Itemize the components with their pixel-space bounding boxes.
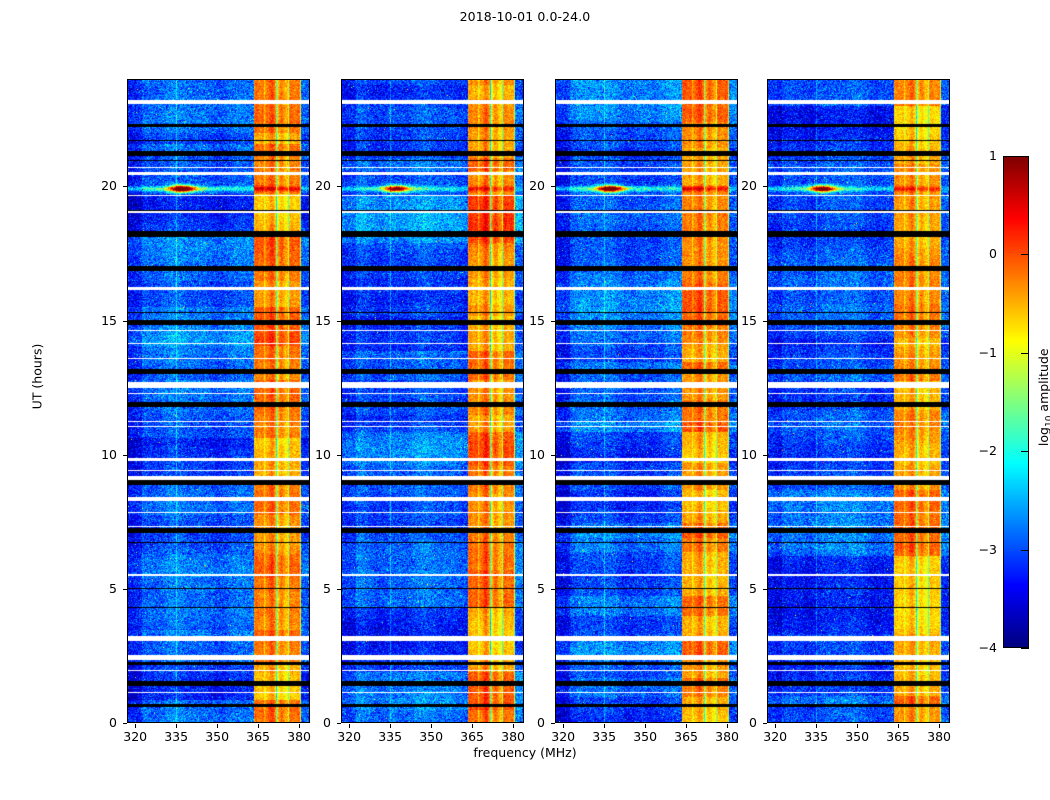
y-tick-mark [123, 455, 127, 456]
y-tick-label: 0 [717, 716, 757, 730]
y-tick-label: 0 [291, 716, 331, 730]
y-tick-mark [551, 321, 555, 322]
y-tick-mark [763, 321, 767, 322]
heatmap-panel-xy[interactable]: XY, V3*V4=EA01*EA05 [555, 79, 738, 723]
x-tick-mark [390, 724, 391, 728]
colorbar-label: log10 amplitude [1036, 317, 1050, 477]
y-tick-mark [551, 723, 555, 724]
x-tick-mark [775, 724, 776, 728]
colorbar-tick-mark [1021, 156, 1029, 157]
x-tick-mark [898, 724, 899, 728]
x-tick-mark [939, 724, 940, 728]
x-tick-mark [349, 724, 350, 728]
y-tick-label: 15 [505, 314, 545, 328]
heatmap-image-xx [128, 80, 309, 722]
colorbar-tick-label: −2 [955, 444, 997, 458]
figure-suptitle: 2018-10-01 0.0-24.0 [0, 9, 1050, 24]
colorbar-tick-label: −4 [955, 641, 997, 655]
y-tick-mark [551, 589, 555, 590]
heatmap-image-yy [342, 80, 523, 722]
y-tick-mark [123, 589, 127, 590]
y-tick-label: 15 [717, 314, 757, 328]
y-tick-mark [337, 723, 341, 724]
x-tick-mark [176, 724, 177, 728]
heatmap-panel-yx[interactable]: YX, V3*V4=EA01*EA05 [767, 79, 950, 723]
y-tick-mark [123, 321, 127, 322]
heatmap-panel-xx[interactable]: XX, V3*V4=EA01*EA05 [127, 79, 310, 723]
y-tick-label: 5 [77, 582, 117, 596]
x-tick-mark [816, 724, 817, 728]
x-tick-mark [857, 724, 858, 728]
heatmap-image-yx [768, 80, 949, 722]
y-tick-mark [551, 186, 555, 187]
y-tick-label: 20 [505, 179, 545, 193]
x-tick-mark [135, 724, 136, 728]
x-tick-mark [472, 724, 473, 728]
y-tick-mark [551, 455, 555, 456]
y-tick-label: 5 [505, 582, 545, 596]
x-tick-mark [431, 724, 432, 728]
x-tick-mark [604, 724, 605, 728]
y-tick-label: 0 [505, 716, 545, 730]
colorbar-gradient [1003, 156, 1029, 648]
x-tick-mark [686, 724, 687, 728]
y-tick-label: 10 [717, 448, 757, 462]
colorbar-tick-mark [1021, 451, 1029, 452]
y-tick-label: 5 [717, 582, 757, 596]
figure-canvas: 2018-10-01 0.0-24.0 XX, V3*V4=EA01*EA05 … [0, 0, 1050, 800]
x-tick-label: 380 [275, 729, 323, 744]
x-tick-label: 380 [915, 729, 963, 744]
colorbar-tick-label: 0 [955, 247, 997, 261]
x-tick-label: 380 [703, 729, 751, 744]
x-tick-label: 380 [489, 729, 537, 744]
y-tick-label: 20 [291, 179, 331, 193]
colorbar-tick-label: −1 [955, 346, 997, 360]
y-tick-label: 15 [77, 314, 117, 328]
x-axis-label: frequency (MHz) [0, 745, 1050, 760]
colorbar-tick-label: 1 [955, 149, 997, 163]
heatmap-panel-yy[interactable]: YY, V3*V4=EA01*EA05 [341, 79, 524, 723]
colorbar-tick-mark [1021, 353, 1029, 354]
y-tick-label: 10 [505, 448, 545, 462]
y-tick-mark [123, 723, 127, 724]
y-tick-mark [763, 589, 767, 590]
heatmap-image-xy [556, 80, 737, 722]
x-tick-mark [563, 724, 564, 728]
y-tick-label: 5 [291, 582, 331, 596]
y-tick-mark [763, 455, 767, 456]
colorbar-tick-mark [1021, 648, 1029, 649]
colorbar-tick-mark [1021, 254, 1029, 255]
y-tick-label: 0 [77, 716, 117, 730]
y-tick-mark [337, 455, 341, 456]
y-tick-mark [337, 186, 341, 187]
x-tick-mark [217, 724, 218, 728]
y-tick-label: 20 [717, 179, 757, 193]
y-tick-label: 10 [77, 448, 117, 462]
colorbar-group[interactable]: log10 amplitude 10−1−2−3−4 [1003, 156, 1029, 648]
x-tick-mark [258, 724, 259, 728]
colorbar-tick-mark [1021, 550, 1029, 551]
y-tick-mark [763, 723, 767, 724]
y-tick-mark [763, 186, 767, 187]
y-tick-label: 10 [291, 448, 331, 462]
y-tick-mark [337, 589, 341, 590]
y-axis-label: UT (hours) [30, 307, 45, 447]
y-tick-label: 20 [77, 179, 117, 193]
y-tick-mark [337, 321, 341, 322]
colorbar-tick-label: −3 [955, 543, 997, 557]
x-tick-mark [645, 724, 646, 728]
y-tick-label: 15 [291, 314, 331, 328]
y-tick-mark [123, 186, 127, 187]
